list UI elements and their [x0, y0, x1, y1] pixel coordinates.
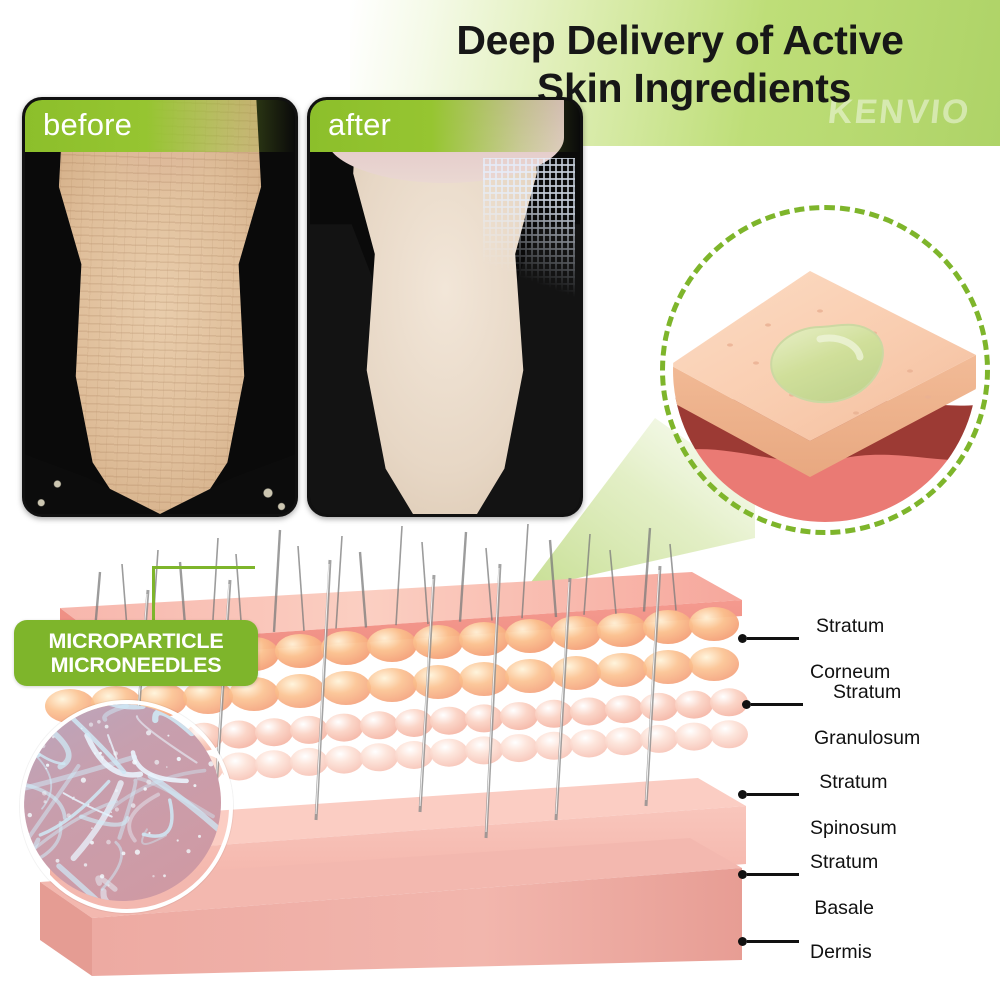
dashed-circle-outline: [660, 205, 990, 535]
before-photo-image: [25, 100, 295, 514]
before-label-band: before: [25, 100, 295, 152]
before-photo-card[interactable]: before: [22, 97, 298, 517]
after-photo-card[interactable]: after: [307, 97, 583, 517]
layer-label-text: Dermis: [810, 918, 872, 964]
leader-line: [751, 703, 803, 706]
leader-dot: [742, 700, 751, 709]
leader-line: [747, 637, 799, 640]
after-photo-image: [310, 100, 580, 514]
leader-line: [747, 873, 799, 876]
leader-line: [747, 940, 799, 943]
badge-line-1: MICROPARTICLE: [49, 629, 224, 653]
leader-dot: [738, 870, 747, 879]
before-label: before: [43, 107, 132, 143]
badge-line-2: MICRONEEDLES: [51, 653, 222, 677]
layer-label-stratum-spinosum: Stratum Spinosum: [738, 748, 897, 840]
leader-dot: [738, 634, 747, 643]
layer-label-dermis: Dermis: [738, 918, 872, 964]
leader-dot: [738, 937, 747, 946]
layer-label-text: Stratum Granulosum: [814, 658, 920, 750]
microneedle-fiber-inset: [20, 700, 233, 913]
microparticle-microneedles-badge: MICROPARTICLE MICRONEEDLES: [14, 620, 258, 686]
layer-label-text: Stratum Spinosum: [810, 748, 897, 840]
magnified-skin-patch: [660, 205, 990, 535]
fiber-illustration: [24, 704, 221, 901]
layer-label-stratum-basale: Stratum Basale: [738, 828, 878, 920]
leader-dot: [738, 790, 747, 799]
layer-label-text: Stratum Basale: [810, 828, 878, 920]
title-line-1: Deep Delivery of Active: [380, 16, 980, 64]
infographic-root: KENVIO Deep Delivery of Active Skin Ingr…: [0, 0, 1000, 1000]
after-label-band: after: [310, 100, 580, 152]
layer-label-stratum-granulosum: Stratum Granulosum: [742, 658, 920, 750]
after-label: after: [328, 107, 391, 143]
leader-line: [747, 793, 799, 796]
